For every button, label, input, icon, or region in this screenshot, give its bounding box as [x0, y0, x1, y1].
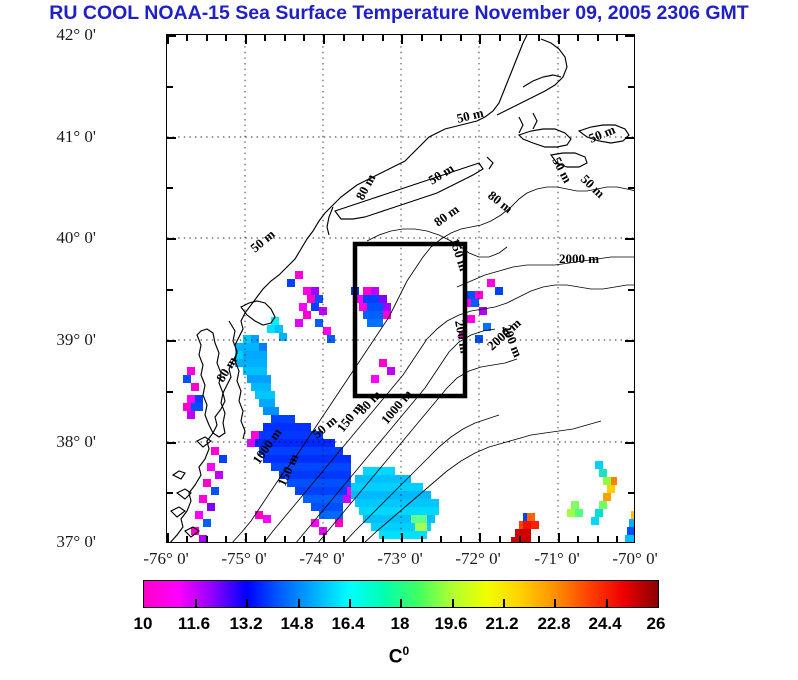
y-tick-minor [167, 187, 173, 189]
x-tick-minor-top [440, 35, 442, 41]
colorbar-unit-letter: C [389, 646, 403, 667]
x-tick-minor-top [206, 35, 208, 41]
x-tick-major-bottom [401, 533, 403, 542]
x-tick-minor-bottom [186, 536, 188, 542]
colorbar-unit: C0 [0, 644, 798, 668]
colorbar [143, 580, 659, 608]
x-tick-minor-top [225, 35, 227, 41]
x-tick-major-bottom [245, 533, 247, 542]
x-tick-major-bottom [634, 533, 635, 542]
y-tick-major [167, 137, 176, 139]
contour-label: 50 m [549, 154, 575, 185]
contour-label: 2000 m [559, 251, 599, 266]
y-tick-major-right [625, 340, 634, 342]
y-axis-label: 39° 0' [6, 330, 96, 350]
x-tick-minor-top [186, 35, 188, 41]
x-tick-minor-top [362, 35, 364, 41]
graticule [167, 35, 634, 542]
colorbar-tick [606, 599, 608, 607]
y-tick-major [167, 542, 176, 543]
x-tick-major-top [479, 35, 481, 44]
x-tick-major-top [245, 35, 247, 44]
y-tick-minor-right [628, 391, 634, 393]
y-axis-label: 38° 0' [6, 432, 96, 452]
contour-label: 80 m [485, 188, 516, 217]
map-svg: 50 m 50 m 50 m 50 m 50 m 50 m 50 m 80 m … [167, 35, 634, 542]
x-tick-minor-bottom [616, 536, 618, 542]
x-tick-minor-bottom [577, 536, 579, 542]
page-title: RU COOL NOAA-15 Sea Surface Temperature … [0, 2, 798, 28]
x-tick-minor-bottom [440, 536, 442, 542]
contour-label: 50 m [247, 226, 278, 255]
x-tick-minor-bottom [421, 536, 423, 542]
x-tick-minor-top [264, 35, 266, 41]
x-tick-major-top [401, 35, 403, 44]
y-axis-label: 37° 0' [6, 532, 96, 552]
x-tick-minor-bottom [519, 536, 521, 542]
x-tick-major-bottom [323, 533, 325, 542]
contour-labels: 50 m 50 m 50 m 50 m 50 m 50 m 50 m 80 m … [213, 105, 618, 488]
y-tick-major [167, 442, 176, 444]
y-tick-major-right [625, 238, 634, 240]
x-tick-minor-top [460, 35, 462, 41]
x-tick-major-top [634, 35, 635, 44]
colorbar-tick [349, 599, 351, 607]
x-tick-minor-top [303, 35, 305, 41]
colorbar-tick [246, 599, 248, 607]
x-axis-label: -70° 0' [580, 549, 690, 569]
x-tick-minor-bottom [206, 536, 208, 542]
colorbar-tick [195, 599, 197, 607]
x-tick-minor-bottom [382, 536, 384, 542]
colorbar-tick [298, 599, 300, 607]
coastline [169, 35, 629, 542]
y-tick-minor-right [628, 86, 634, 88]
x-tick-minor-bottom [225, 536, 227, 542]
x-tick-minor-bottom [303, 536, 305, 542]
x-tick-minor-bottom [362, 536, 364, 542]
sst-map-plot: 50 m 50 m 50 m 50 m 50 m 50 m 50 m 80 m … [166, 34, 635, 543]
x-tick-minor-top [577, 35, 579, 41]
y-tick-major-right [625, 442, 634, 444]
y-tick-major [167, 340, 176, 342]
contour-label: 50 m [455, 105, 485, 126]
map-canvas: 50 m 50 m 50 m 50 m 50 m 50 m 50 m 80 m … [167, 35, 634, 542]
y-axis-label: 40° 0' [6, 228, 96, 248]
y-tick-minor [167, 289, 173, 291]
y-tick-minor [167, 86, 173, 88]
bathymetry-contours [231, 187, 634, 542]
contour-label: 200 m [452, 319, 473, 355]
x-tick-minor-top [519, 35, 521, 41]
x-tick-major-bottom [167, 533, 169, 542]
x-tick-minor-bottom [597, 536, 599, 542]
x-tick-minor-bottom [343, 536, 345, 542]
colorbar-unit-exponent: 0 [403, 644, 410, 658]
x-tick-minor-bottom [499, 536, 501, 542]
x-tick-minor-bottom [460, 536, 462, 542]
colorbar-tick [503, 599, 505, 607]
contour-label: 50 m [578, 171, 608, 201]
contour-label: 80 m [431, 201, 462, 229]
x-tick-minor-top [343, 35, 345, 41]
x-tick-minor-top [597, 35, 599, 41]
sst-pixels [183, 271, 634, 542]
y-tick-minor-right [628, 187, 634, 189]
x-tick-major-bottom [479, 533, 481, 542]
y-tick-major [167, 238, 176, 240]
x-tick-major-top [558, 35, 560, 44]
colorbar-tick [452, 599, 454, 607]
contour-label: 50 m [426, 160, 457, 187]
y-tick-minor [167, 492, 173, 494]
x-tick-minor-top [616, 35, 618, 41]
colorbar-label: 26 [616, 614, 696, 634]
x-tick-minor-top [538, 35, 540, 41]
x-tick-minor-top [382, 35, 384, 41]
x-tick-major-bottom [558, 533, 560, 542]
y-tick-major-right [625, 542, 634, 543]
x-tick-minor-bottom [538, 536, 540, 542]
y-tick-minor-right [628, 289, 634, 291]
y-tick-major-right [625, 137, 634, 139]
x-tick-major-top [167, 35, 169, 44]
y-tick-minor [167, 391, 173, 393]
y-tick-minor-right [628, 492, 634, 494]
x-tick-minor-top [421, 35, 423, 41]
y-tick-major-right [625, 35, 634, 37]
x-tick-minor-top [499, 35, 501, 41]
y-axis-label: 41° 0' [6, 127, 96, 147]
x-tick-minor-top [284, 35, 286, 41]
y-axis-label: 42° 0' [6, 25, 96, 45]
x-tick-major-top [323, 35, 325, 44]
x-tick-minor-bottom [264, 536, 266, 542]
colorbar-tick [400, 599, 402, 607]
colorbar-tick [554, 599, 556, 607]
x-tick-minor-bottom [284, 536, 286, 542]
